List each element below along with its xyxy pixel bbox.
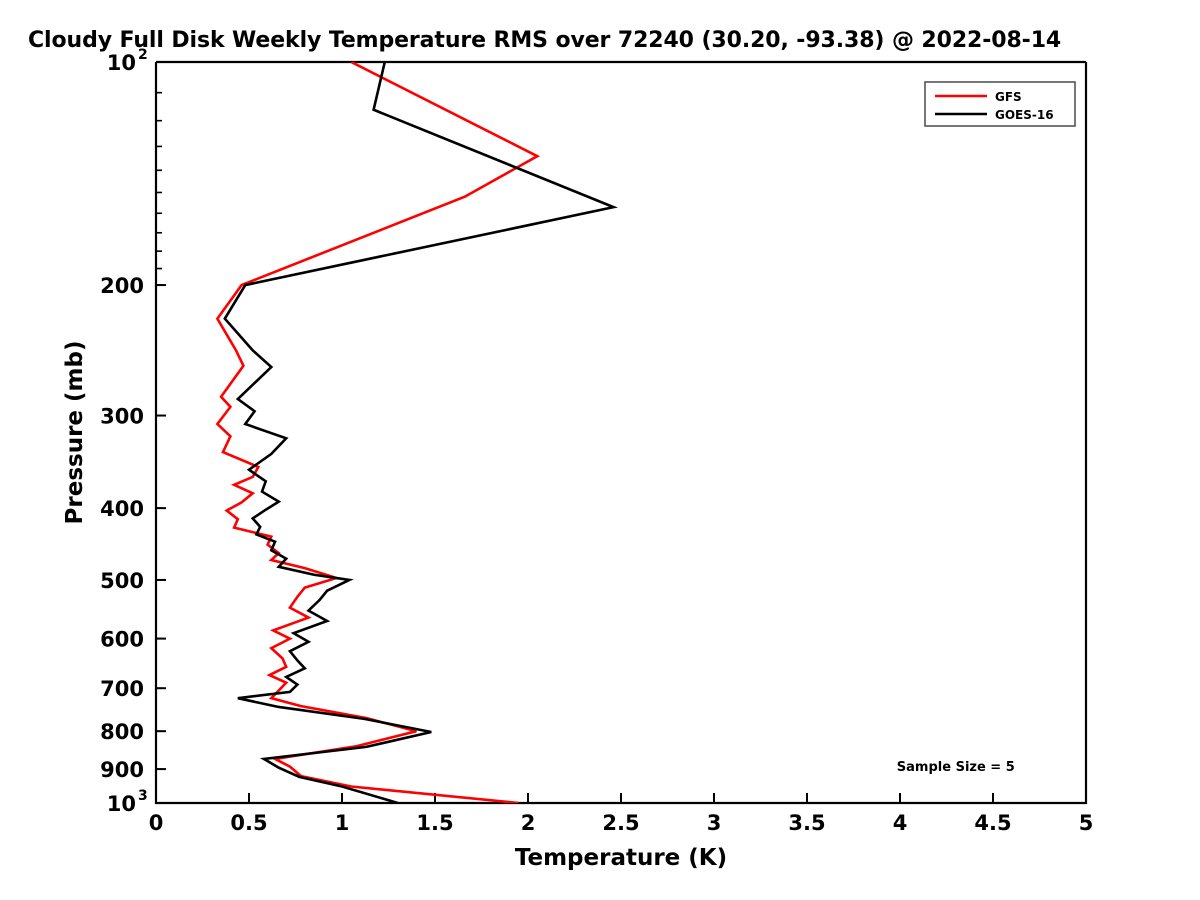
sample-size-annotation: Sample Size = 5 xyxy=(897,760,1015,775)
y-tick-label: 700 xyxy=(100,677,144,701)
y-tick-label: 500 xyxy=(100,569,144,593)
x-tick-label: 2.5 xyxy=(602,811,639,835)
svg-text:800: 800 xyxy=(100,720,144,744)
x-tick-label: 1.5 xyxy=(416,811,453,835)
svg-text:900: 900 xyxy=(100,758,144,782)
axes-group: 00.511.522.533.544.551022003004005006007… xyxy=(62,47,1093,871)
y-tick-label: 400 xyxy=(100,497,144,521)
svg-text:400: 400 xyxy=(100,497,144,521)
x-axis-title: Temperature (K) xyxy=(515,845,727,871)
y-tick-label: 800 xyxy=(100,720,144,744)
plot-area: 00.511.522.533.544.551022003004005006007… xyxy=(0,0,1200,900)
svg-text:600: 600 xyxy=(100,628,144,652)
svg-text:300: 300 xyxy=(100,405,144,429)
legend-label-goes-16: GOES-16 xyxy=(995,108,1054,122)
y-tick-label: 900 xyxy=(100,758,144,782)
svg-text:200: 200 xyxy=(100,274,144,298)
svg-text:3: 3 xyxy=(138,788,148,804)
svg-text:2: 2 xyxy=(138,47,148,63)
x-tick-label: 4 xyxy=(893,811,908,835)
x-tick-label: 0 xyxy=(149,811,164,835)
series-group xyxy=(217,62,613,803)
chart-figure: Cloudy Full Disk Weekly Temperature RMS … xyxy=(0,0,1200,900)
x-tick-label: 3 xyxy=(707,811,722,835)
svg-text:10: 10 xyxy=(107,792,136,816)
svg-text:500: 500 xyxy=(100,569,144,593)
y-tick-label: 600 xyxy=(100,628,144,652)
y-tick-label: 102 xyxy=(107,47,148,75)
y-tick-label: 200 xyxy=(100,274,144,298)
x-tick-label: 5 xyxy=(1079,811,1094,835)
annotation-group: Sample Size = 5 xyxy=(897,760,1015,775)
legend-label-gfs: GFS xyxy=(995,90,1022,104)
x-tick-label: 4.5 xyxy=(974,811,1011,835)
svg-text:700: 700 xyxy=(100,677,144,701)
axis-frame xyxy=(156,62,1086,803)
x-tick-label: 1 xyxy=(335,811,350,835)
x-tick-label: 3.5 xyxy=(788,811,825,835)
series-line-goes-16 xyxy=(225,62,614,803)
y-tick-label: 103 xyxy=(107,788,148,816)
y-tick-label: 300 xyxy=(100,405,144,429)
y-axis-title: Pressure (mb) xyxy=(62,341,88,525)
chart-legend[interactable]: GFSGOES-16 xyxy=(925,82,1075,126)
svg-text:10: 10 xyxy=(107,51,136,75)
x-tick-label: 0.5 xyxy=(230,811,267,835)
x-tick-label: 2 xyxy=(521,811,536,835)
series-line-gfs xyxy=(217,62,537,803)
